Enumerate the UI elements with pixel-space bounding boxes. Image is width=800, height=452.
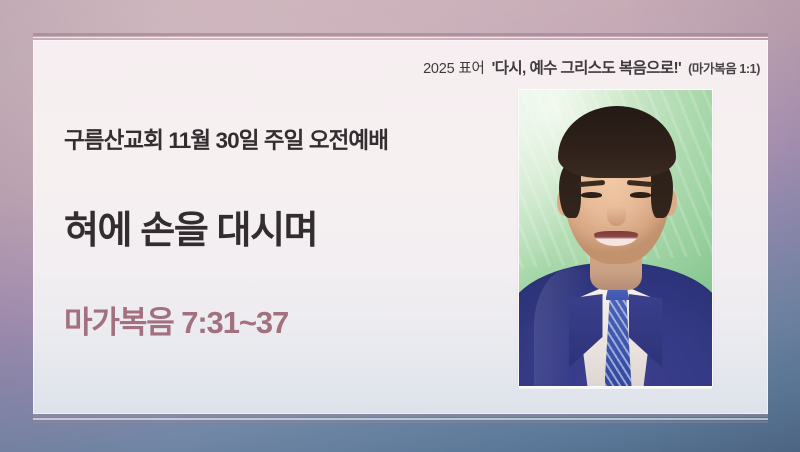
sermon-title-slide: 2025 표어 '다시, 예수 그리스도 복음으로!' (마가복음 1:1) 구… [0,0,800,452]
motto-scripture-reference: (마가복음 1:1) [688,58,760,77]
speaker-portrait [519,90,712,386]
divider-bottom-secondary [33,421,768,423]
motto-quote: '다시, 예수 그리스도 복음으로!' [492,56,681,78]
portrait-eye-right [630,192,651,198]
scripture-reference: 마가복음 7:31~37 [64,297,288,342]
divider-bottom-highlight [33,418,768,420]
portrait-bottom-edge [519,386,712,389]
divider-top-highlight [33,37,768,38]
portrait-eye-left [581,192,602,198]
portrait-nose [607,206,626,226]
yearly-motto: 2025 표어 '다시, 예수 그리스도 복음으로!' (마가복음 1:1) [423,56,760,78]
service-line: 구름산교회 11월 30일 주일 오전예배 [64,123,388,155]
page-title: 혀에 손을 대시며 [64,199,317,254]
divider-bottom-primary [33,414,768,417]
divider-top-primary [33,33,768,36]
motto-year-label: 2025 표어 [423,57,485,78]
